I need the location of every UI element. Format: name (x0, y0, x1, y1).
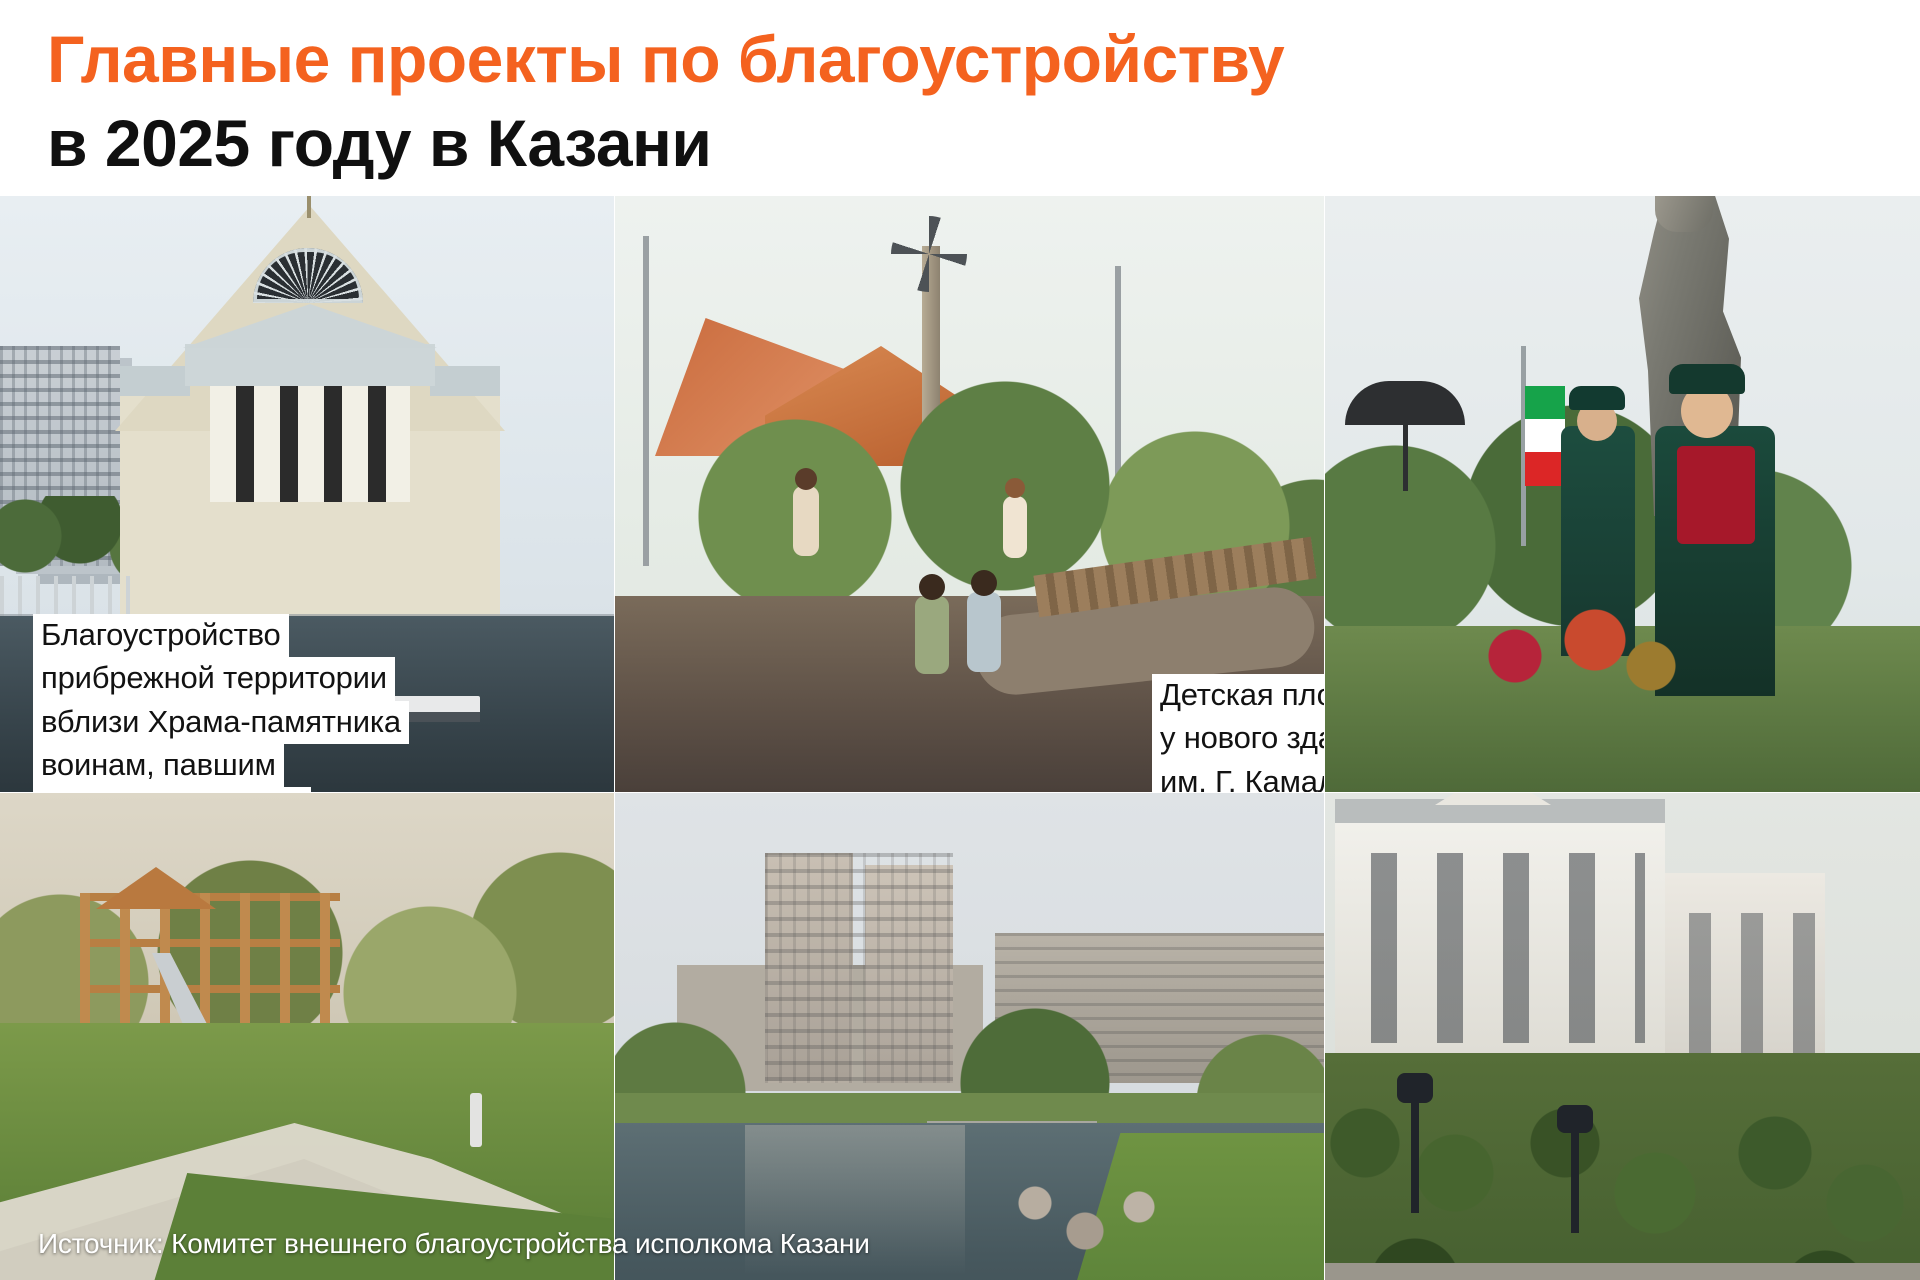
park-lamp-head (1557, 1105, 1593, 1133)
person-figure (1003, 496, 1027, 558)
infographic-root: Главные проекты по благоустройству в 202… (0, 0, 1920, 1280)
caption-line: воинам, павшим (33, 744, 284, 787)
caption-embankment-temple: Благоустройство прибрежной территории вб… (33, 614, 409, 792)
shore-rocks (1015, 1183, 1185, 1273)
person-head (795, 468, 817, 490)
person-head (1005, 478, 1025, 498)
park-lamp-post (1571, 1123, 1579, 1233)
person-figure (793, 486, 819, 556)
park-lamp-post (1411, 1093, 1419, 1213)
temple-columns (210, 386, 410, 502)
officer-cap (1669, 364, 1745, 394)
temple-side-wings (120, 366, 190, 396)
page-title-line-2: в 2025 году в Казани (47, 110, 711, 176)
photo-zilant-square: Сквер Зилант (1325, 793, 1920, 1280)
page-title-line-1: Главные проекты по благоустройству (47, 26, 1284, 92)
side-building-windows (1677, 913, 1817, 1053)
caption-line: им. Г. Камала (1152, 761, 1324, 792)
light-pole (643, 236, 649, 566)
caption-kamal-theatre-playground: Детская площадка у нового здания театра … (1152, 674, 1324, 792)
caption-line: у нового здания театра (1152, 717, 1324, 760)
child-head (971, 570, 997, 596)
historic-building-windows (1355, 853, 1645, 1043)
temple-portico (185, 344, 435, 386)
umbrella-stem (1403, 421, 1408, 491)
photo-kamal-theatre-playground: Детская площадка у нового здания театра … (615, 196, 1324, 792)
photo-chaikovye-lakes: Большое и Малое Чайковые озера (615, 793, 1324, 1280)
soldier-monument-head (1655, 196, 1713, 232)
tatarstan-flag (1525, 386, 1565, 486)
child-figure (967, 592, 1001, 672)
square-paving (1325, 1263, 1920, 1280)
officer-medals (1677, 446, 1755, 544)
path-bollard-light (470, 1093, 482, 1147)
caption-line: прибрежной территории (33, 657, 395, 700)
caption-line: Детская площадка (1152, 674, 1324, 717)
source-attribution: Источник: Комитет внешнего благоустройст… (38, 1228, 870, 1260)
flower-wreath (1475, 596, 1685, 706)
photo-serova-boulevard: Бульвар по ул. Серова, 3-я очередь (0, 793, 614, 1280)
child-figure (915, 596, 949, 674)
header: Главные проекты по благоустройству в 202… (0, 0, 1920, 215)
photo-grid: Благоустройство прибрежной территории вб… (0, 196, 1920, 1280)
caption-line: Благоустройство (33, 614, 289, 657)
wind-turbine-rotor (891, 216, 967, 292)
playground-roof (96, 867, 216, 909)
temple-spire (307, 196, 311, 218)
photo-molodezhny-square: Благоустройство части сквера «Молодежный… (1325, 196, 1920, 792)
temple-gable (183, 304, 437, 348)
historic-building-gable (1435, 793, 1551, 805)
child-head (919, 574, 945, 600)
photo-embankment-temple: Благоустройство прибрежной территории вб… (0, 196, 614, 792)
park-lamp-head (1397, 1073, 1433, 1103)
honor-guard-cap (1569, 386, 1625, 410)
caption-line: вблизи Храма-памятника (33, 701, 409, 744)
caption-line: при взятии Казани (33, 787, 311, 792)
